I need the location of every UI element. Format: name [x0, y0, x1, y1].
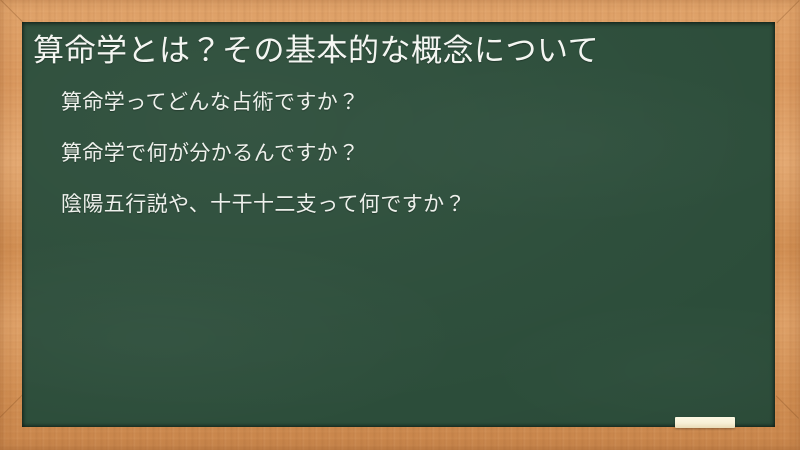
question-item-2: 算命学で何が分かるんですか？: [61, 141, 763, 167]
board-content: 算命学とは？その基本的な概念について 算命学ってどんな占術ですか？ 算命学で何が…: [22, 22, 775, 427]
chalkboard-slide: 算命学とは？その基本的な概念について 算命学ってどんな占術ですか？ 算命学で何が…: [0, 0, 800, 450]
question-item-3: 陰陽五行説や、十干十二支って何ですか？: [61, 192, 763, 218]
chalk-stick: [675, 417, 735, 428]
chalkboard-surface: 算命学とは？その基本的な概念について 算命学ってどんな占術ですか？ 算命学で何が…: [22, 22, 775, 427]
question-item-1: 算命学ってどんな占術ですか？: [61, 90, 763, 116]
question-list: 算命学ってどんな占術ですか？ 算命学で何が分かるんですか？ 陰陽五行説や、十干十…: [33, 90, 763, 218]
slide-title: 算命学とは？その基本的な概念について: [33, 30, 763, 72]
